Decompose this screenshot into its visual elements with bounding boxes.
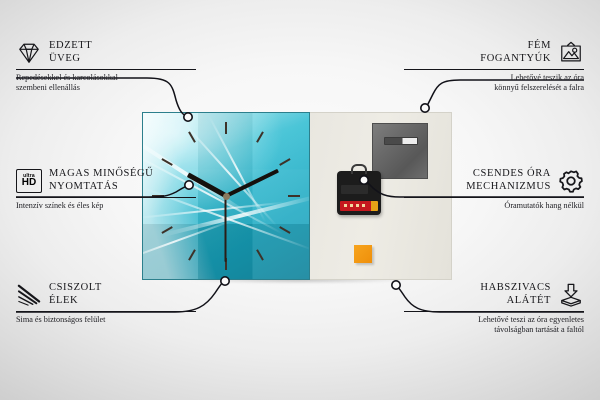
polished-edges-icon <box>16 283 42 307</box>
picture-hanger-icon <box>558 41 584 65</box>
callout-title: CSISZOLTÉLEK <box>49 282 102 308</box>
gear-icon <box>558 169 584 193</box>
clock-hub <box>223 193 230 200</box>
callout-head: EDZETTÜVEG <box>16 40 196 66</box>
hour-tick <box>226 195 300 197</box>
diamond-icon <box>16 41 42 65</box>
callout-rule <box>404 197 584 198</box>
callout-head: CSENDES ÓRAMECHANIZMUS <box>404 168 584 194</box>
wire-node <box>421 104 429 112</box>
quartz-mechanism <box>337 171 381 215</box>
hanger-loop <box>351 164 367 174</box>
callout-rule <box>16 197 196 198</box>
callout-rule <box>404 311 584 312</box>
callout-edzett-uveg: EDZETTÜVEG Repedésekkel és karcolásokkal… <box>16 40 196 94</box>
callout-rule <box>16 311 196 312</box>
callout-csiszolt-elek: CSISZOLTÉLEK Sima és biztonságos felület <box>16 282 196 325</box>
callout-desc: Lehetővé teszik az órakönnyű felszerelés… <box>404 73 584 95</box>
foam-pad-arrow-icon <box>558 283 584 307</box>
callout-rule <box>404 69 584 70</box>
callout-habszivacs-alatet: HABSZIVACSALÁTÉT Lehetővé teszi az óra e… <box>404 282 584 336</box>
callout-head: ultra HD MAGAS MINŐSÉGŰNYOMTATÁS <box>16 168 196 194</box>
callout-title: MAGAS MINŐSÉGŰNYOMTATÁS <box>49 168 153 194</box>
callout-desc: Lehetővé teszi az óra egyenletestávolság… <box>404 315 584 337</box>
foam-spacer-pad <box>354 245 372 263</box>
callout-head: HABSZIVACSALÁTÉT <box>404 282 584 308</box>
callout-title: EDZETTÜVEG <box>49 40 92 66</box>
callout-title: HABSZIVACSALÁTÉT <box>480 282 551 308</box>
callout-csendes-ora-mechanizmus: CSENDES ÓRAMECHANIZMUS Óramutatók hang n… <box>404 168 584 211</box>
hour-tick <box>225 122 227 196</box>
callout-desc: Sima és biztonságos felület <box>16 315 196 326</box>
battery <box>340 201 378 211</box>
callout-title: FÉMFOGANTYÚK <box>480 40 551 66</box>
callout-magas-minosegu-nyomtatas: ultra HD MAGAS MINŐSÉGŰNYOMTATÁS Intenzí… <box>16 168 196 211</box>
callout-desc: Óramutatók hang nélkül <box>404 201 584 212</box>
hanger-slot <box>384 137 418 145</box>
infographic-canvas: EDZETTÜVEG Repedésekkel és karcolásokkal… <box>0 0 600 400</box>
callout-title: CSENDES ÓRAMECHANIZMUS <box>466 168 551 194</box>
callout-rule <box>16 69 196 70</box>
callout-desc: Intenzív színek és éles kép <box>16 201 196 212</box>
callout-desc: Repedésekkel és karcolásokkalszembeni el… <box>16 73 196 95</box>
callout-fem-foganytuk: FÉMFOGANTYÚK Lehetővé teszik az órakönny… <box>404 40 584 94</box>
callout-head: CSISZOLTÉLEK <box>16 282 196 308</box>
mechanism-face <box>341 185 368 194</box>
ultra-hd-icon: ultra HD <box>16 169 42 193</box>
callout-head: FÉMFOGANTYÚK <box>404 40 584 66</box>
